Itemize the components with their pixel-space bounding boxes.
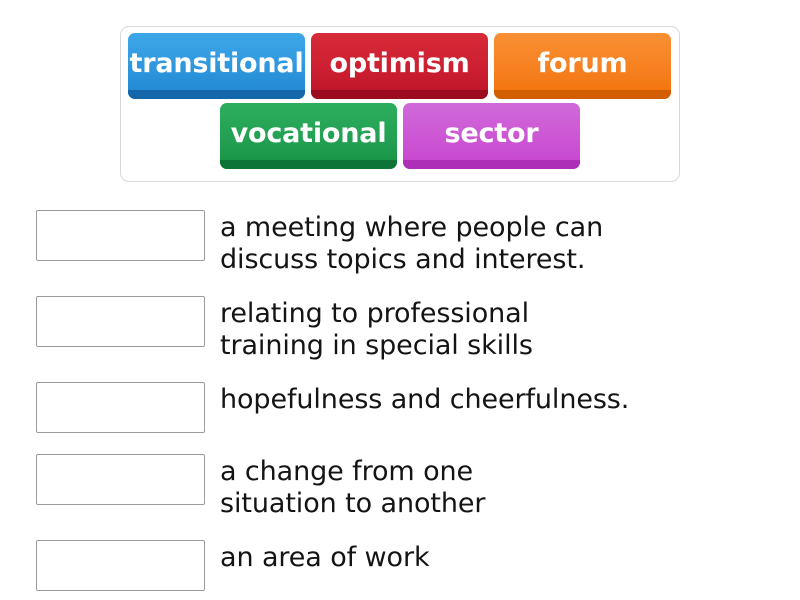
drop-box-4[interactable] xyxy=(36,454,205,505)
word-tile-sector[interactable]: sector xyxy=(403,103,580,169)
definition-text-5: an area of work xyxy=(220,540,766,574)
drop-box-3[interactable] xyxy=(36,382,205,433)
word-tile-optimism[interactable]: optimism xyxy=(311,33,488,99)
drop-box-2[interactable] xyxy=(36,296,205,347)
definition-list: a meeting where people can discuss topic… xyxy=(36,210,766,591)
tile-row-1: transitional optimism forum xyxy=(121,27,679,99)
word-tile-forum[interactable]: forum xyxy=(494,33,671,99)
definition-row: hopefulness and cheerfulness. xyxy=(36,382,766,433)
drop-box-1[interactable] xyxy=(36,210,205,261)
tile-row-2: vocational sector xyxy=(121,99,679,169)
word-tile-vocational[interactable]: vocational xyxy=(220,103,397,169)
word-tile-label: sector xyxy=(445,120,539,147)
drop-box-5[interactable] xyxy=(36,540,205,591)
definition-text-3: hopefulness and cheerfulness. xyxy=(220,382,766,416)
definition-text-1: a meeting where people can discuss topic… xyxy=(220,210,766,275)
word-tile-label: forum xyxy=(538,50,628,77)
definition-row: an area of work xyxy=(36,540,766,591)
word-tile-bank: transitional optimism forum vocational s… xyxy=(120,26,680,182)
definition-row: relating to professional training in spe… xyxy=(36,296,766,361)
word-tile-label: transitional xyxy=(130,50,304,77)
word-tile-label: optimism xyxy=(329,50,469,77)
definition-text-4: a change from one situation to another xyxy=(220,454,766,519)
word-tile-label: vocational xyxy=(231,120,387,147)
definition-row: a meeting where people can discuss topic… xyxy=(36,210,766,275)
definition-row: a change from one situation to another xyxy=(36,454,766,519)
definition-text-2: relating to professional training in spe… xyxy=(220,296,766,361)
word-tile-transitional[interactable]: transitional xyxy=(128,33,305,99)
